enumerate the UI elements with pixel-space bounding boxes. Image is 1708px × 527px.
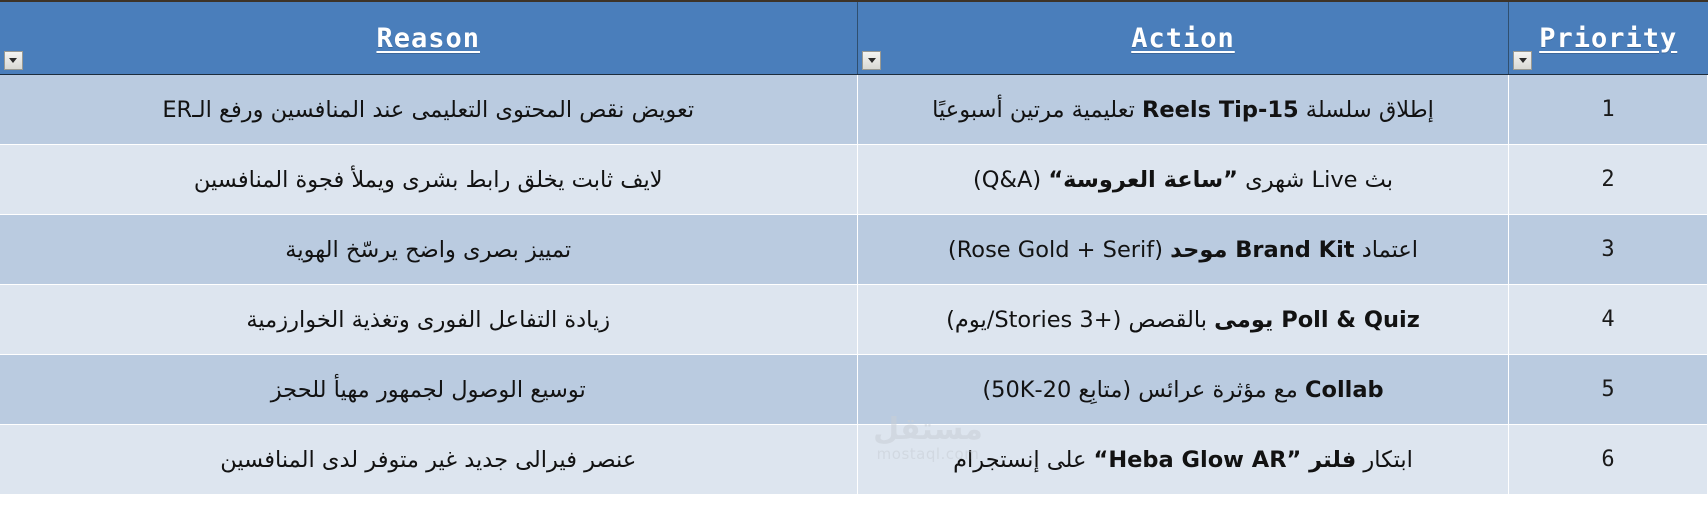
action-text-pre: إطلاق سلسلة	[1299, 97, 1434, 123]
filter-dropdown-action[interactable]	[862, 51, 881, 70]
table-row[interactable]: 5 Collab مع مؤثرة عرائس (متابِع 20-50K) …	[0, 355, 1708, 425]
cell-action: اعتماد Brand Kit موحد (Rose Gold + Serif…	[858, 215, 1509, 285]
cell-reason: تعويض نقص المحتوى التعليمى عند المنافسين…	[0, 75, 858, 145]
table-body: 1 إطلاق سلسلة Reels Tip-15 تعليمية مرتين…	[0, 75, 1708, 495]
column-header-priority-label: Priority	[1539, 25, 1677, 52]
cell-action: Poll & Quiz يومى بالقصص (+3 Stories/يوم)	[858, 285, 1509, 355]
action-text-pre: بث Live شهرى	[1238, 167, 1393, 193]
cell-action: Collab مع مؤثرة عرائس (متابِع 20-50K)	[858, 355, 1509, 425]
spreadsheet-table-view: Priority Action Reason	[0, 0, 1708, 527]
action-text-pre: ابتكار	[1356, 447, 1413, 473]
action-text-post: بالقصص (+3 Stories/يوم)	[946, 307, 1214, 333]
filter-dropdown-priority[interactable]	[1513, 51, 1532, 70]
cell-reason: توسيع الوصول لجمهور مهيأ للحجز	[0, 355, 858, 425]
action-text-post: على إنستجرام	[953, 447, 1093, 473]
action-text-bold: Collab	[1305, 377, 1384, 403]
priority-action-reason-table: Priority Action Reason	[0, 0, 1708, 495]
column-header-action[interactable]: Action	[858, 1, 1509, 75]
action-text-bold: Brand Kit موحد	[1170, 237, 1354, 263]
action-text-post: (Q&A)	[973, 167, 1048, 193]
column-header-reason-label: Reason	[376, 25, 480, 52]
column-header-reason[interactable]: Reason	[0, 1, 858, 75]
cell-priority: 4	[1509, 285, 1708, 355]
cell-reason: زيادة التفاعل الفورى وتغذية الخوارزمية	[0, 285, 858, 355]
chevron-down-icon	[868, 58, 876, 63]
cell-priority: 3	[1509, 215, 1708, 285]
action-text-pre: اعتماد	[1355, 237, 1419, 263]
table-row[interactable]: 3 اعتماد Brand Kit موحد (Rose Gold + Ser…	[0, 215, 1708, 285]
cell-priority: 1	[1509, 75, 1708, 145]
action-text-bold: Poll & Quiz يومى	[1214, 307, 1420, 333]
cell-reason: عنصر فيرالى جديد غير متوفر لدى المنافسين	[0, 425, 858, 495]
cell-action: إطلاق سلسلة Reels Tip-15 تعليمية مرتين أ…	[858, 75, 1509, 145]
filter-dropdown-reason[interactable]	[4, 51, 23, 70]
action-text-bold: ”ساعة العروسة“	[1048, 167, 1238, 193]
action-text-post: مع مؤثرة عرائس (متابِع 20-50K)	[982, 377, 1305, 403]
action-text-post: تعليمية مرتين أسبوعيًا	[932, 97, 1142, 123]
cell-priority: 5	[1509, 355, 1708, 425]
action-text-post: (Rose Gold + Serif)	[948, 237, 1170, 263]
table-header: Priority Action Reason	[0, 1, 1708, 75]
column-header-priority[interactable]: Priority	[1509, 1, 1708, 75]
action-text-bold: Reels Tip-15	[1142, 97, 1299, 123]
chevron-down-icon	[1519, 58, 1527, 63]
table-row[interactable]: 6 ابتكار فلتر ”Heba Glow AR“ على إنستجرا…	[0, 425, 1708, 495]
cell-reason: تمييز بصرى واضح يرسّخ الهوية	[0, 215, 858, 285]
column-header-action-label: Action	[1131, 25, 1235, 52]
table-row[interactable]: 1 إطلاق سلسلة Reels Tip-15 تعليمية مرتين…	[0, 75, 1708, 145]
action-text-bold: فلتر ”Heba Glow AR“	[1094, 447, 1357, 473]
table-header-row: Priority Action Reason	[0, 1, 1708, 75]
chevron-down-icon	[9, 58, 17, 63]
cell-priority: 6	[1509, 425, 1708, 495]
table-row[interactable]: 4 Poll & Quiz يومى بالقصص (+3 Stories/يو…	[0, 285, 1708, 355]
table-row[interactable]: 2 بث Live شهرى ”ساعة العروسة“ (Q&A) لايف…	[0, 145, 1708, 215]
cell-action: بث Live شهرى ”ساعة العروسة“ (Q&A)	[858, 145, 1509, 215]
cell-action: ابتكار فلتر ”Heba Glow AR“ على إنستجرام	[858, 425, 1509, 495]
cell-reason: لايف ثابت يخلق رابط بشرى ويملأ فجوة المن…	[0, 145, 858, 215]
cell-priority: 2	[1509, 145, 1708, 215]
